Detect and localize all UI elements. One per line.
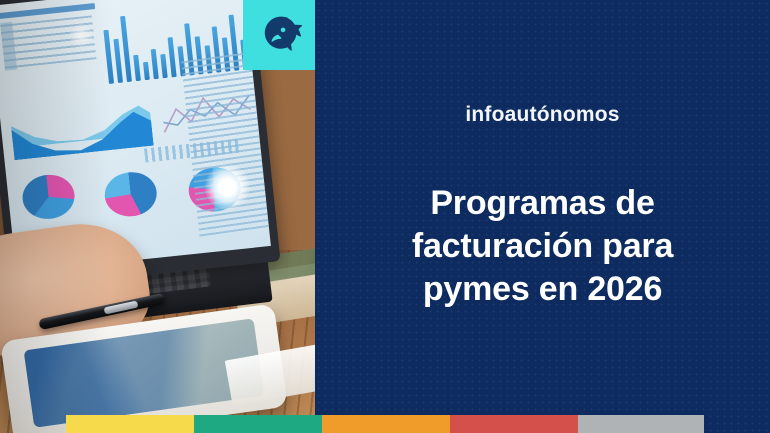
dolphin-icon (243, 0, 315, 70)
headline-line-2: facturación para (315, 225, 770, 268)
page-title: Programas de facturación para pymes en 2… (315, 182, 770, 311)
accent-bar-segment-red (450, 415, 578, 433)
pie-chart (103, 170, 159, 219)
area-chart (9, 94, 154, 160)
pie-chart (20, 172, 76, 221)
accent-color-bar (0, 415, 770, 433)
accent-bar-segment-yellow (66, 415, 194, 433)
accent-bar-segment-orange (322, 415, 450, 433)
brand-wordmark: infoautónomos (315, 103, 770, 127)
marketing-banner: infoautónomos Programas de facturación p… (0, 0, 770, 433)
headline-line-3: pymes en 2026 (315, 268, 770, 311)
accent-bar-segment-gray (578, 415, 704, 433)
accent-bar-segment-teal (194, 415, 322, 433)
headline-line-1: Programas de (315, 182, 770, 225)
